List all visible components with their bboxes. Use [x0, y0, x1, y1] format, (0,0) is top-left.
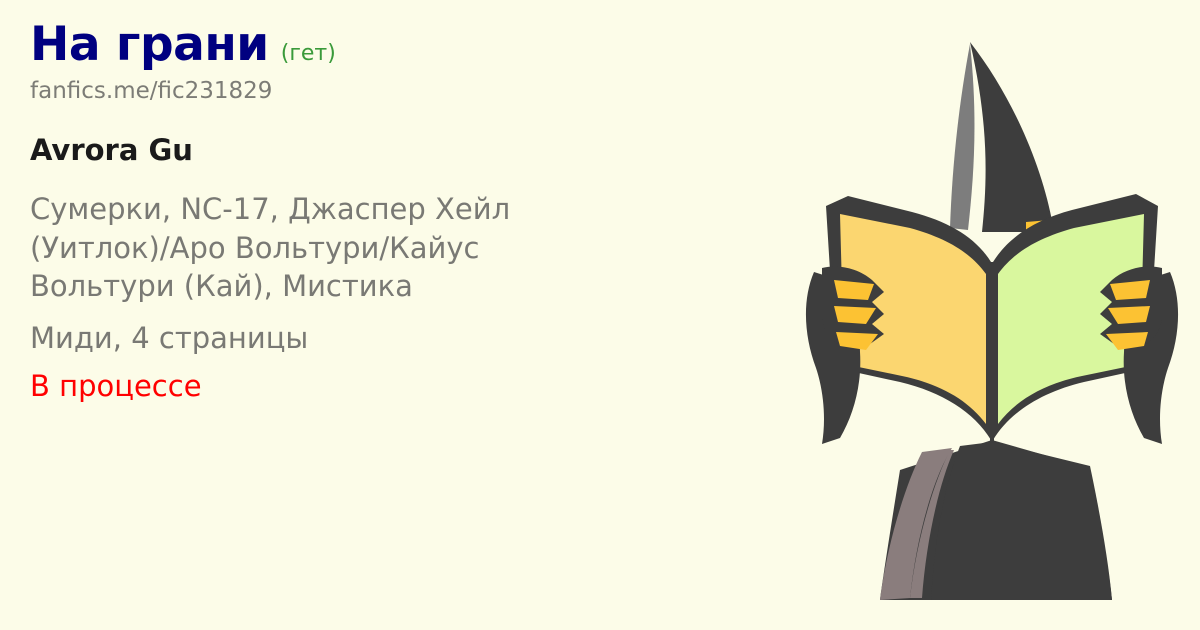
witch-robe-icon: [880, 440, 1112, 600]
title-row: На грани (гет): [30, 20, 770, 69]
size-and-pages: Миди, 4 страницы: [30, 319, 770, 358]
fanfic-preview-card: На грани (гет) fanfics.me/fic231829 Avro…: [0, 0, 1200, 630]
page-title: На грани: [30, 20, 269, 69]
description-line-2: (Уитлок)/Аро Вольтури/Кайус: [30, 229, 770, 268]
description-line-3: Вольтури (Кай), Мистика: [30, 267, 770, 306]
author-name[interactable]: Avrora Gu: [30, 134, 770, 167]
witch-reading-book-illustration: [792, 0, 1192, 630]
status-badge: В процессе: [30, 367, 770, 406]
meta-block: Сумерки, NC-17, Джаспер Хейл (Уитлок)/Ар…: [30, 190, 770, 406]
title-category-label: (гет): [281, 42, 336, 65]
text-column: На грани (гет) fanfics.me/fic231829 Avro…: [30, 20, 770, 406]
source-url[interactable]: fanfics.me/fic231829: [30, 78, 770, 104]
description-line-1: Сумерки, NC-17, Джаспер Хейл: [30, 190, 770, 229]
